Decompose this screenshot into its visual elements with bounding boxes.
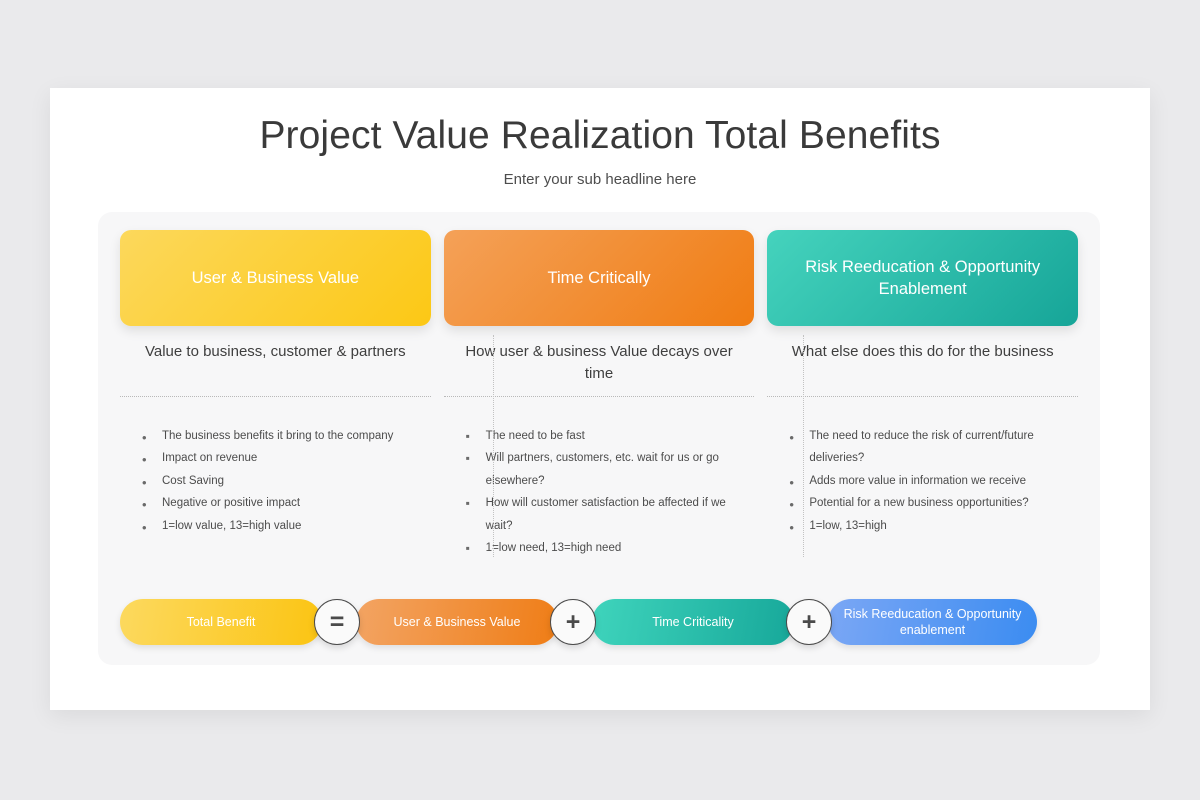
list-item: 1=low value, 13=high value bbox=[138, 515, 431, 537]
equals-icon: = bbox=[314, 599, 360, 645]
card-header-user-business-value[interactable]: User & Business Value bbox=[120, 230, 431, 326]
list-item: Cost Saving bbox=[138, 470, 431, 492]
pill-user-business-value[interactable]: User & Business Value bbox=[356, 599, 558, 645]
list-item: The need to reduce the risk of current/f… bbox=[785, 425, 1078, 470]
three-column-cards: User & Business Value Value to business,… bbox=[120, 230, 1078, 560]
bullet-list-user-business-value: The business benefits it bring to the co… bbox=[120, 397, 431, 537]
divider-vertical-2 bbox=[803, 335, 804, 557]
slide-canvas: Project Value Realization Total Benefits… bbox=[50, 88, 1150, 710]
list-item: The business benefits it bring to the co… bbox=[138, 425, 431, 447]
list-item: Will partners, customers, etc. wait for … bbox=[462, 447, 755, 492]
pill-total-benefit[interactable]: Total Benefit bbox=[120, 599, 322, 645]
pill-risk-reeducation[interactable]: Risk Reeducation & Opportunity enablemen… bbox=[828, 599, 1037, 645]
page-title: Project Value Realization Total Benefits bbox=[50, 114, 1150, 158]
card-subtitle-time-critically: How user & business Value decays over ti… bbox=[444, 341, 755, 385]
list-item: How will customer satisfaction be affect… bbox=[462, 492, 755, 537]
list-item: 1=low need, 13=high need bbox=[462, 537, 755, 559]
bullet-list-risk-reeducation: The need to reduce the risk of current/f… bbox=[767, 397, 1078, 537]
card-subtitle-risk-reeducation: What else does this do for the business bbox=[767, 341, 1078, 385]
list-item: Adds more value in information we receiv… bbox=[785, 470, 1078, 492]
column-risk-reeducation: Risk Reeducation & Opportunity Enablemen… bbox=[767, 230, 1078, 560]
list-item: Impact on revenue bbox=[138, 447, 431, 469]
plus-icon-1: + bbox=[550, 599, 596, 645]
card-header-risk-reeducation[interactable]: Risk Reeducation & Opportunity Enablemen… bbox=[767, 230, 1078, 326]
list-item: 1=low, 13=high bbox=[785, 515, 1078, 537]
page-subtitle: Enter your sub headline here bbox=[50, 171, 1150, 188]
bullet-list-time-critically: The need to be fast Will partners, custo… bbox=[444, 397, 755, 560]
card-header-time-critically[interactable]: Time Critically bbox=[444, 230, 755, 326]
column-user-business-value: User & Business Value Value to business,… bbox=[120, 230, 431, 560]
content-panel: User & Business Value Value to business,… bbox=[98, 212, 1100, 665]
list-item: Potential for a new business opportuniti… bbox=[785, 492, 1078, 514]
pill-time-criticality[interactable]: Time Criticality bbox=[592, 599, 794, 645]
plus-icon-2: + bbox=[786, 599, 832, 645]
list-item: Negative or positive impact bbox=[138, 492, 431, 514]
formula-row: Total Benefit = User & Business Value + … bbox=[120, 599, 1078, 645]
column-time-critically: Time Critically How user & business Valu… bbox=[444, 230, 755, 560]
divider-vertical-1 bbox=[493, 335, 494, 557]
card-subtitle-user-business-value: Value to business, customer & partners bbox=[120, 341, 431, 385]
list-item: The need to be fast bbox=[462, 425, 755, 447]
